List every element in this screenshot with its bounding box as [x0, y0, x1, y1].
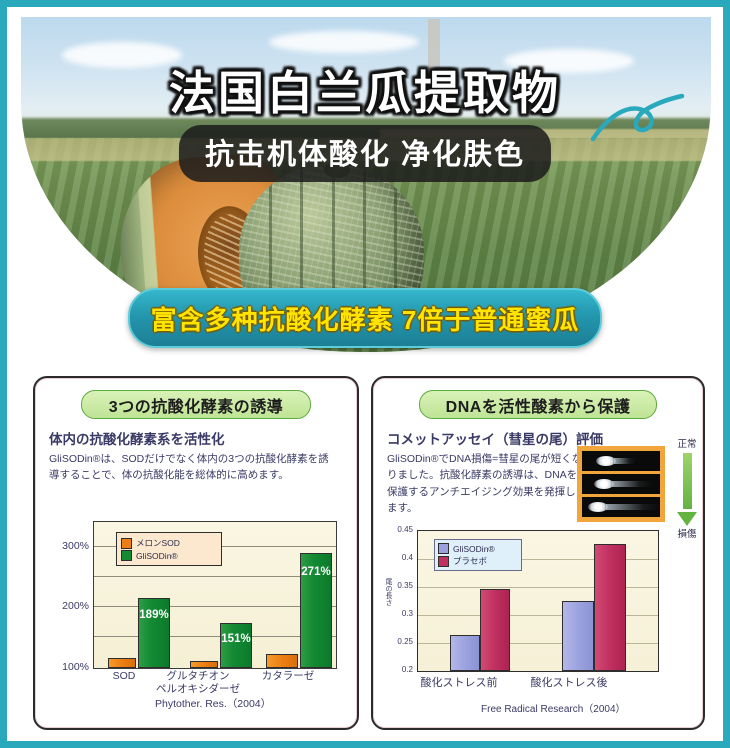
legend-swatch-blue: [438, 543, 449, 554]
panel-left-heading: 3つの抗酸化酵素の誘導: [109, 393, 283, 417]
hero-banner-text: 富含多种抗酸化酵素 7倍于普通蜜瓜: [151, 300, 580, 337]
legend-item-glisodin: GliSODin®: [438, 543, 518, 554]
x-axis-label-sod: SOD: [89, 670, 159, 683]
hero-feature-banner: 富含多种抗酸化酵素 7倍于普通蜜瓜: [128, 288, 602, 348]
legend-swatch-red: [438, 556, 449, 567]
legend-label: GliSODin®: [136, 551, 178, 561]
legend-label: メロンSOD: [136, 537, 180, 549]
panel-right-lead: コメットアッセイ（彗星の尾）評価: [387, 428, 703, 448]
bar-glisodin-1: 189%: [138, 598, 170, 668]
panel-right-body: GliSODin®でDNA損傷=彗星の尾が短くなりました。抗酸化酵素の誘導は、D…: [387, 451, 583, 516]
legend-item-placebo: プラセボ: [438, 555, 518, 567]
comet-head: [594, 479, 614, 489]
legend-swatch-green: [121, 550, 132, 561]
x-axis-label-after: 酸化ストレス後: [517, 674, 621, 690]
legend-label: GliSODin®: [453, 544, 495, 554]
arrow-down-icon: [677, 512, 697, 526]
y-tick-label: 0.35: [381, 581, 413, 590]
x-axis-label-before: 酸化ストレス前: [407, 674, 511, 690]
y-tick-label: 0.3: [381, 609, 413, 618]
bar-glisodin-3: 271%: [300, 553, 332, 668]
hero-subtitle: 抗击机体酸化 净化肤色: [179, 125, 551, 182]
chart-legend: メロンSOD GliSODin®: [116, 532, 222, 566]
bar-value-label: 271%: [300, 566, 332, 578]
comet-assay-strip-1: [582, 451, 660, 471]
bar-melon-sod-2: [190, 661, 218, 668]
bar-melon-sod-3: [266, 654, 298, 668]
y-tick-label: 200%: [49, 600, 89, 612]
legend-item-glisodin: GliSODin®: [121, 550, 217, 561]
chart-dna-damage: 尾の長さ 0.45 0.4 0.35 0.3 0.25 0.2: [381, 530, 695, 698]
charts-section: 3つの抗酸化酵素の誘導 体内の抗酸化酵素系を活性化 GliSODin®は、SOD…: [7, 368, 723, 741]
chart-enzyme-induction: 100% 200% 300% 189% 151%: [49, 521, 341, 691]
x-axis-label-gpx-line1: グルタチオン: [151, 670, 245, 683]
arrow-shaft: [683, 453, 692, 509]
bar-value-label: 151%: [220, 633, 252, 645]
bar-melon-sod-1: [108, 658, 136, 668]
comet-tail: [614, 458, 636, 464]
source-citation-right: Free Radical Research（2004）: [481, 700, 626, 715]
comet-tail: [606, 504, 660, 510]
bar-glisodin-2: 151%: [220, 623, 252, 668]
frame-border-bottom: [0, 741, 730, 748]
panel-left-body: GliSODin®は、SODだけでなく体内の3つの抗酸化酵素を誘導することで、体…: [49, 451, 337, 484]
frame-border-top: [0, 0, 730, 7]
product-detail-page: 法国白兰瓜提取物 抗击机体酸化 净化肤色 富含多种抗酸化酵素 7倍于普通蜜瓜 3…: [0, 0, 730, 748]
panel-dna-protection: DNAを活性酸素から保護 コメットアッセイ（彗星の尾）評価 GliSODin®で…: [371, 376, 705, 730]
y-tick-label: 300%: [49, 540, 89, 552]
y-tick-label: 100%: [49, 661, 89, 673]
chart-plot-area: 189% 151% 271% メロンSOD: [93, 521, 337, 669]
bar-placebo-after: [594, 544, 626, 671]
page-title: 法国白兰瓜提取物: [7, 57, 723, 123]
y-tick-label: 0.45: [381, 525, 413, 534]
damage-scale-indicator: 正常 損傷: [669, 436, 705, 534]
panel-right-heading: DNAを活性酸素から保護: [446, 393, 631, 417]
comet-assay-images: [577, 446, 665, 522]
chart-plot-area: GliSODin® プラセボ: [417, 530, 659, 672]
legend-swatch-orange: [121, 538, 132, 549]
y-tick-label: 0.2: [381, 665, 413, 674]
x-axis-label-catalase: カタラーゼ: [245, 670, 331, 683]
x-axis-label-gpx-line2: ペルオキシダーゼ: [143, 683, 253, 696]
panel-left-heading-pill: 3つの抗酸化酵素の誘導: [81, 390, 311, 419]
y-tick-label: 0.25: [381, 637, 413, 646]
y-tick-label: 0.4: [381, 553, 413, 562]
comet-assay-strip-3: [582, 497, 660, 517]
bar-glisodin-before: [450, 635, 480, 671]
chart-legend: GliSODin® プラセボ: [434, 539, 522, 571]
source-citation-left: Phytother. Res.（2004）: [155, 696, 271, 711]
panel-right-heading-pill: DNAを活性酸素から保護: [419, 390, 657, 419]
bar-value-label: 189%: [139, 609, 169, 621]
comet-tail: [612, 481, 652, 487]
hero-section: 法国白兰瓜提取物 抗击机体酸化 净化肤色 富含多种抗酸化酵素 7倍于普通蜜瓜: [7, 7, 723, 362]
cloud-shape: [269, 31, 419, 53]
frame-border-left: [0, 0, 7, 748]
comet-head: [596, 456, 616, 466]
panel-left-lead: 体内の抗酸化酵素系を活性化: [49, 428, 357, 448]
comet-assay-strip-2: [582, 474, 660, 494]
legend-item-melon-sod: メロンSOD: [121, 537, 217, 549]
frame-border-right: [723, 0, 730, 748]
scale-label-normal: 正常: [669, 436, 705, 450]
comet-head: [588, 502, 608, 512]
panel-antioxidant-enzymes: 3つの抗酸化酵素の誘導 体内の抗酸化酵素系を活性化 GliSODin®は、SOD…: [33, 376, 359, 730]
legend-label: プラセボ: [453, 555, 487, 567]
bar-placebo-before: [480, 589, 510, 671]
bar-glisodin-after: [562, 601, 594, 671]
